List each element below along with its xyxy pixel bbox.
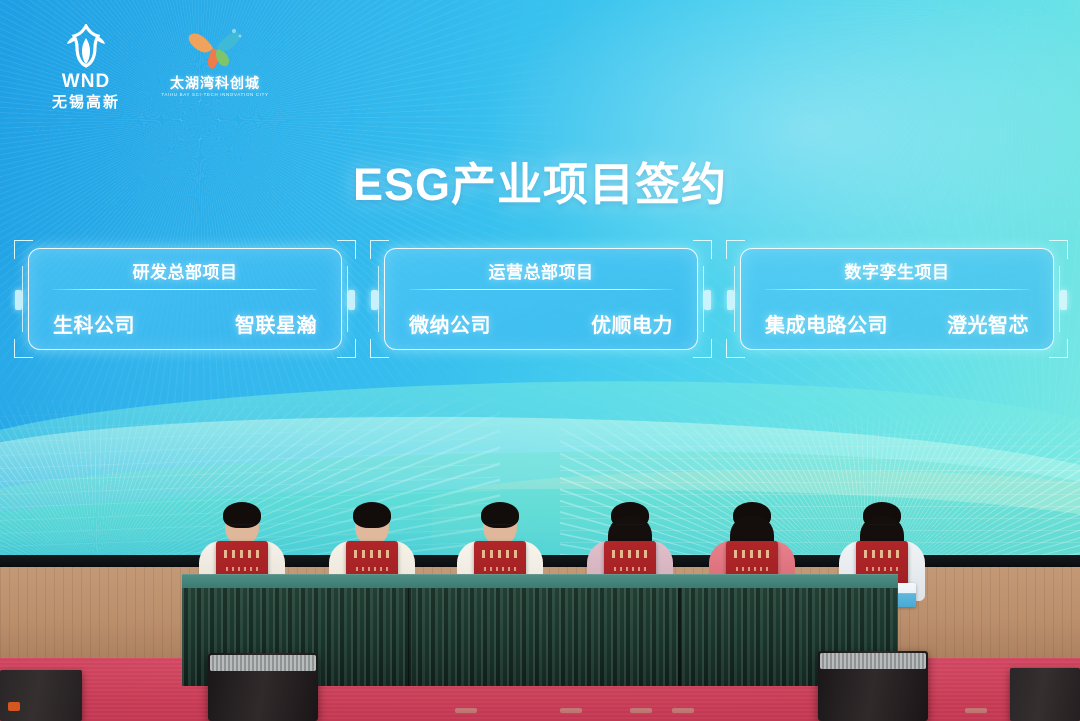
decor-tab bbox=[348, 290, 355, 310]
taihu-bay-logo: 太湖湾科创城 TAIHU BAY SCI-TECH INNOVATION CIT… bbox=[160, 24, 270, 97]
floor-monitor-speaker-left bbox=[208, 653, 318, 721]
lotus-mark-icon bbox=[60, 24, 112, 68]
decor-tab bbox=[704, 290, 711, 310]
decor-line bbox=[734, 266, 735, 332]
table-section-divider bbox=[678, 588, 681, 686]
speaker-grill bbox=[210, 655, 316, 671]
card-title: 运营总部项目 bbox=[385, 258, 697, 283]
card-body: 运营总部项目 微纳公司 优顺电力 bbox=[384, 248, 698, 350]
card-body: 研发总部项目 生科公司 智联星瀚 bbox=[28, 248, 342, 350]
taihu-bay-chinese-text: 太湖湾科创城 bbox=[170, 76, 260, 90]
wnd-logo: WND 无锡高新 bbox=[38, 24, 134, 110]
party-left: 集成电路公司 bbox=[765, 309, 888, 338]
floor-monitor-speaker-right-edge bbox=[1010, 668, 1080, 721]
table-section-divider bbox=[408, 588, 411, 686]
decor-line bbox=[22, 266, 23, 332]
card-body: 数字孪生项目 集成电路公司 澄光智芯 bbox=[740, 248, 1054, 350]
speaker-brand-badge bbox=[8, 702, 20, 711]
led-backdrop-screen: WND 无锡高新 太湖湾科创城 TAIHU BAY SCI-TECH INNOV… bbox=[0, 0, 1080, 565]
project-card-3: 数字孪生项目 集成电路公司 澄光智芯 bbox=[726, 240, 1068, 358]
wnd-chinese-text: 无锡高新 bbox=[52, 95, 120, 110]
party-right: 智联星瀚 bbox=[235, 309, 317, 338]
glasses-icon bbox=[869, 524, 895, 532]
floor-monitor-speaker-left-edge bbox=[0, 670, 82, 721]
floor-plate bbox=[965, 708, 987, 713]
card-title: 研发总部项目 bbox=[29, 258, 341, 283]
card-separator bbox=[765, 289, 1029, 290]
event-headline: ESG产业项目签约 bbox=[0, 148, 1080, 213]
card-parties: 生科公司 智联星瀚 bbox=[53, 299, 317, 347]
wnd-latin-text: WND bbox=[62, 72, 110, 91]
decor-tab bbox=[371, 290, 378, 310]
floor-monitor-speaker-right bbox=[818, 651, 928, 721]
card-separator bbox=[409, 289, 673, 290]
speaker-body bbox=[1010, 668, 1080, 721]
speaker-body bbox=[208, 653, 318, 721]
card-parties: 微纳公司 优顺电力 bbox=[409, 299, 673, 347]
floor-plate bbox=[455, 708, 477, 713]
taihu-bay-english-text: TAIHU BAY SCI-TECH INNOVATION CITY bbox=[161, 93, 268, 97]
decor-line bbox=[378, 266, 379, 332]
project-card-1: 研发总部项目 生科公司 智联星瀚 bbox=[14, 240, 356, 358]
card-separator bbox=[53, 289, 317, 290]
speaker-body bbox=[0, 670, 82, 721]
logo-bar: WND 无锡高新 太湖湾科创城 TAIHU BAY SCI-TECH INNOV… bbox=[38, 24, 270, 110]
floor-plate bbox=[630, 708, 652, 713]
party-right: 澄光智芯 bbox=[947, 309, 1029, 338]
butterfly-mark-icon bbox=[184, 24, 246, 72]
glasses-icon bbox=[487, 524, 513, 532]
signing-table-top bbox=[182, 574, 898, 589]
signing-ceremony-photo: WND 无锡高新 太湖湾科创城 TAIHU BAY SCI-TECH INNOV… bbox=[0, 0, 1080, 721]
party-right: 优顺电力 bbox=[591, 309, 673, 338]
speaker-body bbox=[818, 651, 928, 721]
floor-plate bbox=[560, 708, 582, 713]
speaker-grill bbox=[820, 653, 926, 669]
decor-tab bbox=[727, 290, 734, 310]
hair bbox=[353, 502, 391, 528]
hair bbox=[733, 502, 771, 528]
glasses-icon bbox=[617, 524, 643, 532]
decor-tab bbox=[15, 290, 22, 310]
floor-plate bbox=[672, 708, 694, 713]
party-left: 生科公司 bbox=[53, 309, 135, 338]
project-cards: 研发总部项目 生科公司 智联星瀚 运营总部项目 bbox=[0, 240, 1080, 365]
card-title: 数字孪生项目 bbox=[741, 258, 1053, 283]
project-card-2: 运营总部项目 微纳公司 优顺电力 bbox=[370, 240, 712, 358]
glasses-icon bbox=[229, 524, 255, 532]
party-left: 微纳公司 bbox=[409, 309, 491, 338]
decor-tab bbox=[1060, 290, 1067, 310]
card-parties: 集成电路公司 澄光智芯 bbox=[765, 299, 1029, 347]
